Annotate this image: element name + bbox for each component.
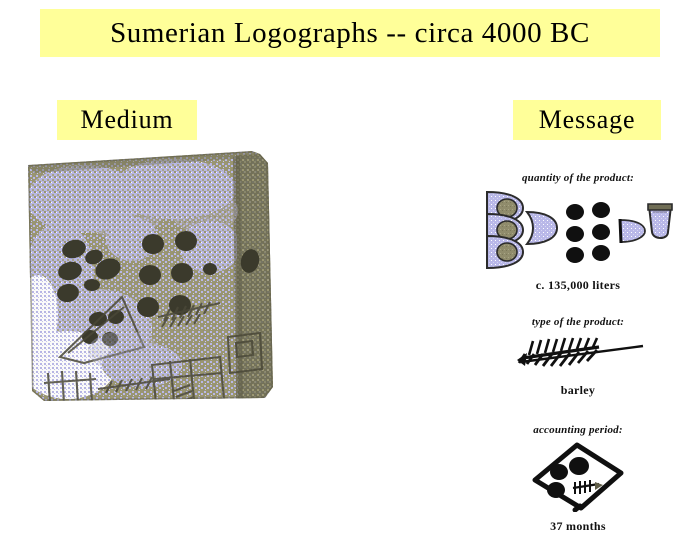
cup-sign	[648, 204, 672, 238]
tablet-surface	[24, 151, 275, 401]
vessel-sign-stack-large	[487, 192, 523, 268]
page-title-banner: Sumerian Logographs -- circa 4000 BC	[40, 9, 660, 57]
message-column-heading: Message	[513, 100, 661, 140]
message-heading-label: Message	[539, 105, 636, 135]
medium-column-heading: Medium	[57, 100, 197, 140]
type-value: barley	[478, 383, 678, 398]
type-caption: type of the product:	[478, 316, 678, 328]
period-value: 37 months	[478, 519, 678, 534]
medium-heading-label: Medium	[81, 105, 174, 135]
accounting-period-lozenge-logograph	[523, 440, 633, 512]
vessel-measure-logographs	[483, 188, 673, 270]
barley-ear-logograph	[503, 332, 653, 374]
message-group-period: accounting period: 37 months	[478, 424, 678, 534]
quantity-caption: quantity of the product:	[478, 172, 678, 184]
message-group-type: type of the product:	[478, 316, 678, 398]
clay-tablet-image	[24, 151, 275, 401]
period-caption: accounting period:	[478, 424, 678, 436]
page-title: Sumerian Logographs -- circa 4000 BC	[110, 17, 590, 50]
message-group-quantity: quantity of the product:	[478, 172, 678, 293]
clay-tablet-figure	[24, 151, 275, 401]
dot-signs	[566, 202, 610, 263]
lens-sign	[620, 219, 645, 243]
quantity-value: c. 135,000 liters	[478, 278, 678, 293]
vessel-sign-single	[527, 212, 557, 244]
